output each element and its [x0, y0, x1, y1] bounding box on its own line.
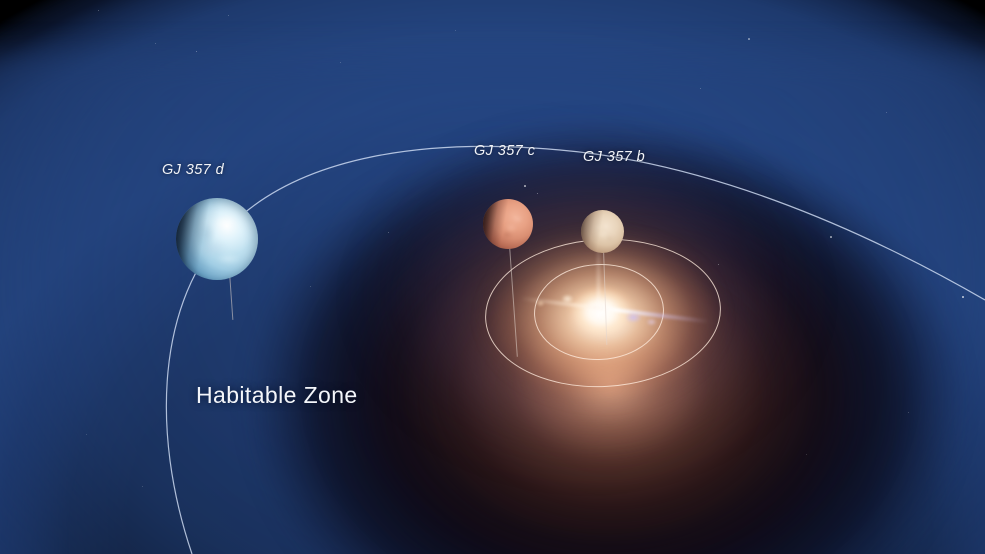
- planet-terminator-shadow: [176, 198, 258, 280]
- planet-label-gj-357-c: GJ 357 c: [474, 143, 535, 159]
- planet-terminator-shadow: [483, 199, 533, 249]
- planet-sphere-gj-357-d[interactable]: [176, 198, 258, 280]
- lens-flare-dot: [536, 300, 545, 307]
- planet-sphere-gj-357-c[interactable]: [483, 199, 533, 249]
- background-star: [748, 38, 750, 40]
- planet-sphere-gj-357-b[interactable]: [581, 210, 624, 253]
- planet-label-gj-357-b: GJ 357 b: [583, 149, 645, 165]
- lens-flare-dot: [625, 312, 642, 323]
- background-star: [524, 185, 526, 187]
- background-star: [830, 236, 832, 238]
- lens-flare-dot: [561, 294, 574, 304]
- planet-label-gj-357-d: GJ 357 d: [162, 162, 224, 178]
- planet-terminator-shadow: [581, 210, 624, 253]
- habitable-zone-label: Habitable Zone: [196, 382, 358, 409]
- gj-357-system-illustration: GJ 357 d GJ 357 c GJ 357 b Habitable Zon…: [0, 0, 985, 554]
- background-star: [962, 296, 964, 298]
- lens-flare-dot: [646, 318, 657, 326]
